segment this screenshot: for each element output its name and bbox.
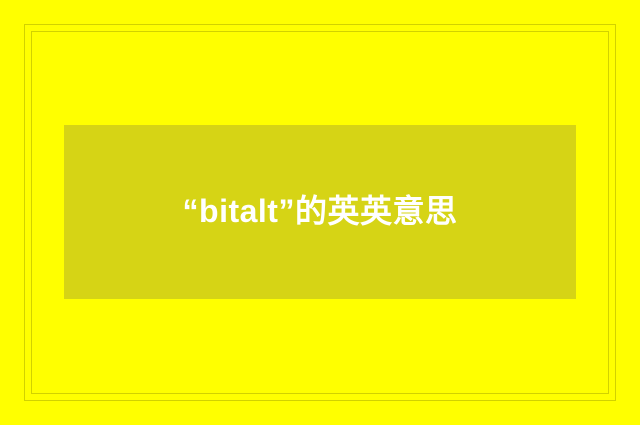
page-canvas: “bitalt”的英英意思: [0, 0, 640, 425]
page-title: “bitalt”的英英意思: [153, 184, 488, 239]
title-panel: “bitalt”的英英意思: [64, 125, 576, 299]
